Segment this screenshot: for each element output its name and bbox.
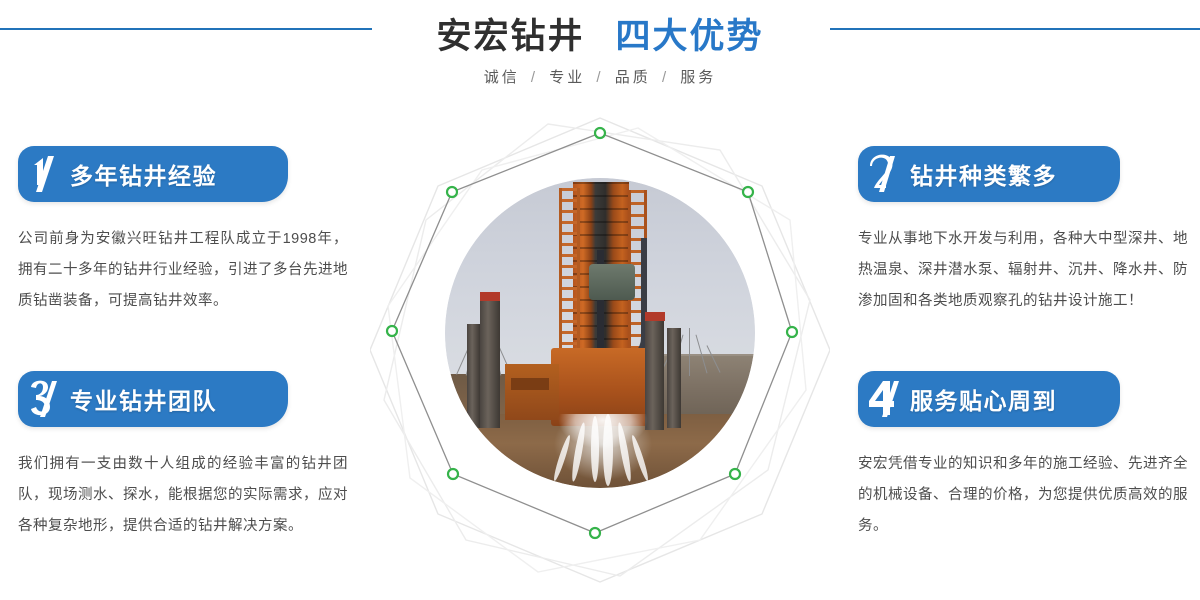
subtitle-item-0: 诚信 xyxy=(484,69,520,86)
node-top-left xyxy=(447,187,457,197)
page-title: 安宏钻井 四大优势 xyxy=(0,8,1200,59)
node-left xyxy=(387,326,397,336)
card-3-body: 我们拥有一支由数十人组成的经验丰富的钻井团队，现场测水、探水，能根据您的实际需求… xyxy=(18,449,348,542)
subtitle-separator-1: / xyxy=(592,69,607,86)
card-3-title: 专业钻井团队 xyxy=(70,382,217,416)
number-two-icon xyxy=(858,146,912,202)
card-1-title: 多年钻井经验 xyxy=(70,157,217,191)
subtitle-separator-0: / xyxy=(527,69,542,86)
node-bottom-left xyxy=(448,469,458,479)
card-4-title: 服务贴心周到 xyxy=(910,382,1057,416)
subtitle-separator-2: / xyxy=(658,69,673,86)
advantage-card-2[interactable]: 钻井种类繁多 专业从事地下水开发与利用，各种大中型深井、地热温泉、深井潜水泵、辐… xyxy=(858,146,1198,317)
page-header: 安宏钻井 四大优势 诚信 / 专业 / 品质 / 服务 xyxy=(0,0,1200,110)
node-top-right xyxy=(743,187,753,197)
number-three-icon xyxy=(18,371,72,427)
subtitle-item-3: 服务 xyxy=(680,69,716,86)
advantage-card-3[interactable]: 专业钻井团队 我们拥有一支由数十人组成的经验丰富的钻井团队，现场测水、探水，能根… xyxy=(18,371,358,542)
title-company: 安宏钻井 xyxy=(437,17,585,56)
card-2-body: 专业从事地下水开发与利用，各种大中型深井、地热温泉、深井潜水泵、辐射井、沉井、降… xyxy=(858,224,1188,317)
node-right xyxy=(787,327,797,337)
number-one-icon xyxy=(18,146,72,202)
page-subtitle: 诚信 / 专业 / 品质 / 服务 xyxy=(0,66,1200,87)
advantage-card-4[interactable]: 服务贴心周到 安宏凭借专业的知识和多年的施工经验、先进齐全的机械设备、合理的价格… xyxy=(858,371,1198,542)
card-2-title: 钻井种类繁多 xyxy=(910,157,1057,191)
title-highlight: 四大优势 xyxy=(615,17,763,56)
card-4-badge: 服务贴心周到 xyxy=(858,371,1120,427)
subtitle-item-2: 品质 xyxy=(615,69,651,86)
number-four-icon xyxy=(858,371,912,427)
card-1-badge: 多年钻井经验 xyxy=(18,146,288,202)
card-2-badge: 钻井种类繁多 xyxy=(858,146,1120,202)
card-3-badge: 专业钻井团队 xyxy=(18,371,288,427)
page-root: 安宏钻井 四大优势 诚信 / 专业 / 品质 / 服务 多年钻井经验 公司前身为… xyxy=(0,0,1200,600)
center-graphic xyxy=(370,110,830,590)
polygon-nodes xyxy=(370,110,830,590)
node-bottom-right xyxy=(730,469,740,479)
card-4-body: 安宏凭借专业的知识和多年的施工经验、先进齐全的机械设备、合理的价格，为您提供优质… xyxy=(858,449,1188,542)
node-top xyxy=(595,128,605,138)
node-bottom xyxy=(590,528,600,538)
advantage-card-1[interactable]: 多年钻井经验 公司前身为安徽兴旺钻井工程队成立于1998年，拥有二十多年的钻井行… xyxy=(18,146,358,317)
subtitle-item-1: 专业 xyxy=(549,69,585,86)
card-1-body: 公司前身为安徽兴旺钻井工程队成立于1998年，拥有二十多年的钻井行业经验，引进了… xyxy=(18,224,348,317)
